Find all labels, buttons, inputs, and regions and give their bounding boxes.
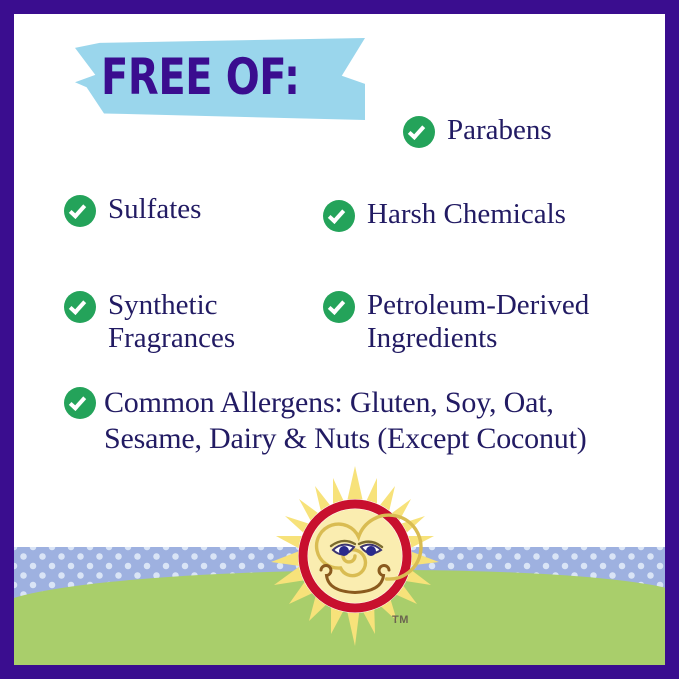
- check-circle-icon: [323, 200, 355, 232]
- check-circle-icon: [323, 291, 355, 323]
- list-item-label: Common Allergens: Gluten, Soy, Oat, Sesa…: [104, 385, 587, 457]
- check-circle-icon: [64, 291, 96, 323]
- list-item-label: Petroleum-Derived Ingredients: [367, 289, 589, 355]
- list-item-common-allergens: Common Allergens: Gluten, Soy, Oat, Sesa…: [64, 385, 587, 457]
- list-item-label: Sulfates: [108, 193, 201, 226]
- check-circle-icon: [64, 195, 96, 227]
- banner-title: FREE OF:: [101, 46, 301, 108]
- check-circle-icon: [64, 387, 96, 419]
- list-item-synthetic-fragrances: Synthetic Fragrances: [64, 289, 235, 355]
- trademark-symbol: TM: [392, 614, 409, 626]
- smiling-sun-logo: TM: [271, 466, 439, 646]
- card-canvas: FREE OF: Parabens Sulfates Harsh Chemica…: [14, 14, 665, 665]
- list-item-harsh-chemicals: Harsh Chemicals: [323, 198, 566, 232]
- list-item-petroleum-derived: Petroleum-Derived Ingredients: [323, 289, 589, 355]
- check-circle-icon: [403, 116, 435, 148]
- list-item-sulfates: Sulfates: [64, 193, 201, 227]
- list-item-label: Synthetic Fragrances: [108, 289, 235, 355]
- list-item-label: Parabens: [447, 114, 552, 147]
- list-item-label: Harsh Chemicals: [367, 198, 566, 231]
- free-of-banner: FREE OF:: [75, 38, 365, 120]
- list-item-parabens: Parabens: [403, 114, 552, 148]
- free-of-card: FREE OF: Parabens Sulfates Harsh Chemica…: [0, 0, 679, 679]
